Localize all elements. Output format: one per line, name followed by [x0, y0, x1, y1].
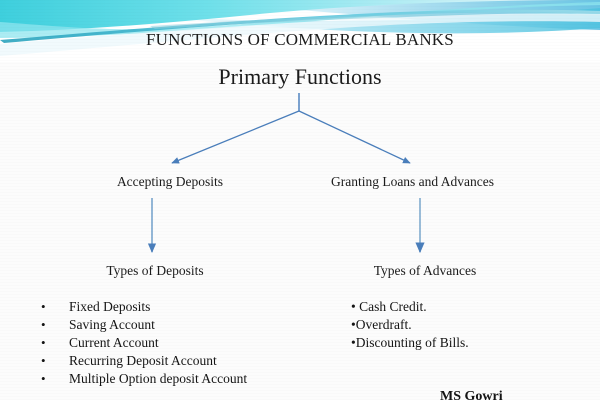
- list-item: • Fixed Deposits: [24, 299, 324, 317]
- list-item-label: Recurring Deposit Account: [69, 353, 217, 369]
- node-types-of-advances: Types of Advances: [345, 263, 505, 279]
- footer-credit: MS Gowri: [440, 389, 590, 400]
- list-item: • Saving Account: [24, 317, 324, 335]
- list-item-label: Saving Account: [69, 317, 155, 333]
- list-item: •Overdraft.: [351, 317, 581, 335]
- node-granting-loans-and-advances: Granting Loans and Advances: [305, 174, 520, 190]
- page-title: FUNCTIONS OF COMMERCIAL BANKS: [0, 30, 600, 50]
- list-item: •Discounting of Bills.: [351, 335, 581, 353]
- bullet-icon: •: [41, 300, 51, 313]
- bullet-icon: •: [41, 354, 51, 367]
- connector-to-granting-loans: [299, 111, 410, 163]
- node-accepting-deposits: Accepting Deposits: [60, 174, 280, 190]
- list-item: • Current Account: [24, 335, 324, 353]
- connector-to-accepting-deposits: [172, 111, 299, 163]
- list-item-label: Multiple Option deposit Account: [69, 371, 247, 387]
- list-item-label: Current Account: [69, 335, 159, 351]
- list-item: • Multiple Option deposit Account: [24, 371, 324, 389]
- node-primary-functions: Primary Functions: [0, 64, 600, 90]
- bullet-icon: •: [41, 336, 51, 349]
- list-item: • Recurring Deposit Account: [24, 353, 324, 371]
- deposits-bullet-list: • Fixed Deposits • Saving Account • Curr…: [24, 299, 324, 389]
- slide-canvas: FUNCTIONS OF COMMERCIAL BANKS Primary Fu…: [0, 0, 600, 400]
- list-item-label: Fixed Deposits: [69, 299, 150, 315]
- node-types-of-deposits: Types of Deposits: [60, 263, 250, 279]
- list-item: • Cash Credit.: [351, 299, 581, 317]
- bullet-icon: •: [41, 372, 51, 385]
- advances-bullet-list: • Cash Credit. •Overdraft. •Discounting …: [351, 299, 581, 353]
- bullet-icon: •: [41, 318, 51, 331]
